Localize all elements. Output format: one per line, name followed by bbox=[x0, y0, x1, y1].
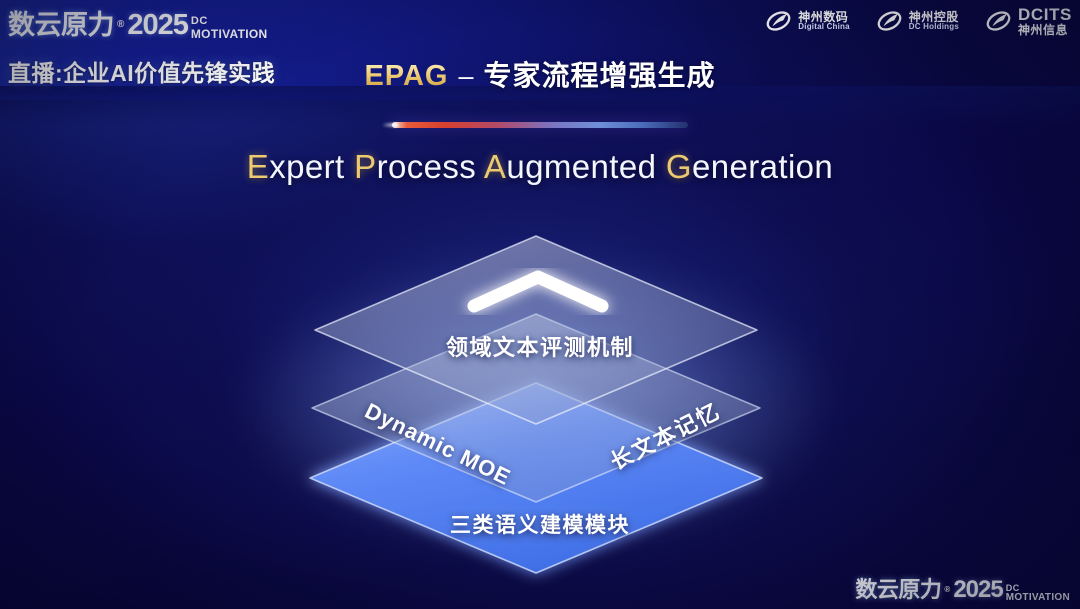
watermark-logo: 数云原力 ® 2025 DC MOTIVATION bbox=[855, 572, 1070, 604]
title-acronym: EPAG bbox=[364, 60, 448, 92]
watermark-logo-motivation: MOTIVATION bbox=[1006, 593, 1070, 603]
subtitle-cap-e: E bbox=[247, 148, 269, 185]
swoosh-icon bbox=[765, 8, 792, 34]
chevron-up-icon bbox=[474, 277, 602, 306]
slide-title: EPAG–专家流程增强生成 bbox=[0, 54, 1080, 94]
layer-label-long-text-memory: 长文本记忆 bbox=[604, 394, 725, 477]
partner-logo-dcits: DCITS 神州信息 bbox=[985, 6, 1072, 37]
event-logo-year: 2025 bbox=[127, 9, 188, 42]
partner-logo-digital-china: 神州数码 Digital China bbox=[765, 8, 850, 34]
partner-name-en: DCITS bbox=[1018, 6, 1072, 24]
subtitle-expansion: Expert Process Augmented Generation bbox=[0, 148, 1080, 186]
subtitle-cap-g: G bbox=[666, 148, 692, 185]
layer-label-top: 领域文本评测机制 bbox=[0, 330, 1080, 362]
watermark-logo-dc-motivation: DC MOTIVATION bbox=[1006, 584, 1070, 604]
swoosh-icon bbox=[985, 8, 1012, 34]
watermark-logo-cn: 数云原力 bbox=[855, 572, 941, 604]
title-chinese: 专家流程增强生成 bbox=[484, 60, 716, 91]
event-logo-motivation: MOTIVATION bbox=[191, 28, 268, 40]
partner-logo-group: 神州数码 Digital China 神州控股 DC Holdings DCIT… bbox=[765, 6, 1072, 37]
partner-name-en: Digital China bbox=[798, 23, 850, 31]
subtitle-rest-generation: eneration bbox=[692, 148, 833, 185]
partner-text: DCITS 神州信息 bbox=[1018, 6, 1072, 37]
event-logo-dc-motivation: DC MOTIVATION bbox=[191, 16, 268, 42]
subtitle-rest-expert: xpert bbox=[269, 148, 354, 185]
layer-label-dynamic-moe: Dynamic MOE bbox=[361, 398, 515, 491]
layer-label-bottom: 三类语义建模模块 bbox=[0, 509, 1080, 539]
partner-text: 神州数码 Digital China bbox=[798, 11, 850, 32]
partner-text: 神州控股 DC Holdings bbox=[909, 11, 959, 32]
watermark-logo-registered-mark: ® bbox=[944, 585, 950, 604]
gradient-divider bbox=[392, 122, 688, 128]
swoosh-icon bbox=[876, 8, 903, 34]
partner-logo-dc-holdings: 神州控股 DC Holdings bbox=[876, 8, 959, 34]
subtitle-cap-a: A bbox=[484, 148, 506, 185]
subtitle-cap-p: P bbox=[354, 148, 376, 185]
slide-canvas: 数云原力 ® 2025 DC MOTIVATION 直播:企业AI价值先锋实践 … bbox=[0, 0, 1080, 609]
event-logo: 数云原力 ® 2025 DC MOTIVATION bbox=[8, 3, 267, 42]
subtitle-rest-process: rocess bbox=[377, 148, 484, 185]
event-logo-dc: DC bbox=[191, 16, 268, 27]
title-dash: – bbox=[449, 61, 484, 91]
event-logo-cn: 数云原力 bbox=[8, 3, 114, 42]
subtitle-rest-augmented: ugmented bbox=[506, 148, 666, 185]
event-logo-registered-mark: ® bbox=[117, 19, 124, 42]
watermark-logo-year: 2025 bbox=[953, 576, 1002, 604]
partner-name-cn: 神州信息 bbox=[1018, 24, 1072, 37]
partner-name-en: DC Holdings bbox=[909, 23, 959, 31]
